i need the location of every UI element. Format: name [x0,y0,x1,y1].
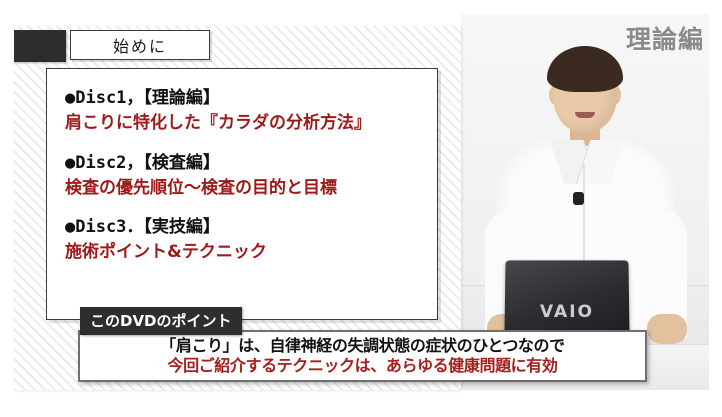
list-item: ●Disc3．【実技編】 施術ポイント&テクニック [65,216,437,265]
lapel-microphone-icon [573,192,584,205]
presenter-mouth [575,112,595,118]
disc-list-box: ●Disc1，【理論編】 肩こりに特化した『カラダの分析方法』 ●Disc2，【… [46,68,438,320]
presenter-hand-right [647,314,687,344]
disc-title: ●Disc2，【検査編】 [65,152,437,175]
slide-screenshot: VAIO 理論編 始めに ●Disc1，【理論編】 肩こりに特化した『カラダの分… [0,0,722,417]
disc-title: ●Disc1，【理論編】 [65,87,437,110]
caption-box: 「肩こり」は、自律神経の失調状態の症状のひとつなので 今回ご紹介するテクニックは… [78,330,647,382]
laptop-brand-logo: VAIO [540,302,594,322]
caption-label-badge: このDVDのポイント [80,307,242,335]
list-item: ●Disc1，【理論編】 肩こりに特化した『カラダの分析方法』 [65,87,437,136]
caption-line-1: 「肩こり」は、自律神経の失調状態の症状のひとつなので [160,336,564,356]
disc-subtitle: 肩こりに特化した『カラダの分析方法』 [65,112,437,136]
list-item: ●Disc2，【検査編】 検査の優先順位～検査の目的と目標 [65,152,437,201]
disc-subtitle: 施術ポイント&テクニック [65,241,437,265]
tab-hajimeni[interactable]: 始めに [70,30,210,60]
disc-title: ●Disc3．【実技編】 [65,216,437,239]
disc-subtitle: 検査の優先順位～検査の目的と目標 [65,177,437,201]
laptop-lid: VAIO [504,260,629,334]
tab-marker-square [14,30,66,62]
section-badge: 理論編 [626,20,704,56]
tab-label: 始めに [113,33,167,57]
caption-line-2: 今回ご紹介するテクニックは、あらゆる健康問題に有効 [167,356,557,376]
